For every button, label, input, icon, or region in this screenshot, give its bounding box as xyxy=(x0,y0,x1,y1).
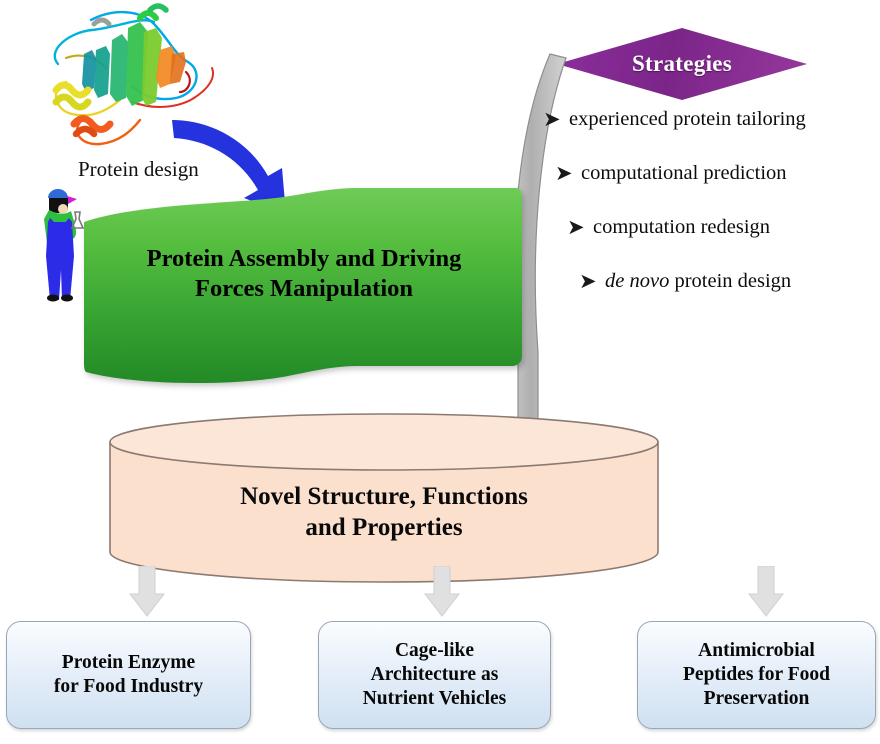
figure-canvas: Protein design xyxy=(0,0,880,744)
outcome-box-antimicrobial[interactable]: Antimicrobial Peptides for Food Preserva… xyxy=(637,621,876,729)
outcome-line-3: Preservation xyxy=(683,687,830,711)
list-item-label-italic: de novo xyxy=(605,270,669,292)
outcome-box-cage-like[interactable]: Cage-like Architecture as Nutrient Vehic… xyxy=(318,621,551,729)
list-item-label-rest: protein design xyxy=(669,270,791,292)
strategies-list: ➤ experienced protein tailoring ➤ comput… xyxy=(543,108,880,324)
outcome-box-text: Protein Enzyme for Food Industry xyxy=(54,651,203,699)
outcome-line-1: Protein Enzyme xyxy=(54,651,203,675)
strategies-diamond: Strategies xyxy=(557,28,807,100)
outcome-box-protein-enzyme[interactable]: Protein Enzyme for Food Industry xyxy=(6,621,251,729)
cylinder-line-1: Novel Structure, Functions xyxy=(108,482,660,513)
outcome-line-2: Architecture as xyxy=(363,663,507,687)
down-arrow-icon xyxy=(423,566,461,618)
outcome-line-2: Peptides for Food xyxy=(683,663,830,687)
list-item: ➤ experienced protein tailoring xyxy=(543,108,880,162)
list-item: ➤ computation redesign xyxy=(543,216,880,270)
list-item-label: experienced protein tailoring xyxy=(569,108,806,131)
list-item: ➤ computational prediction xyxy=(543,162,880,216)
arrow-bullet-icon: ➤ xyxy=(543,108,569,130)
list-item: ➤ de novo protein design xyxy=(543,270,880,324)
list-item-label: de novo protein design xyxy=(605,270,791,293)
list-item-label: computation redesign xyxy=(593,216,770,239)
arrow-bullet-icon: ➤ xyxy=(567,216,593,238)
arrow-bullet-icon: ➤ xyxy=(555,162,581,184)
outcome-line-3: Nutrient Vehicles xyxy=(363,687,507,711)
list-item-label: computational prediction xyxy=(581,162,787,185)
outcome-line-1: Antimicrobial xyxy=(683,639,830,663)
protein-assembly-banner: Protein Assembly and Driving Forces Mani… xyxy=(84,186,524,392)
down-arrow-icon xyxy=(747,566,785,618)
outcome-box-text: Antimicrobial Peptides for Food Preserva… xyxy=(683,639,830,712)
outcome-line-2: for Food Industry xyxy=(54,675,203,699)
outcome-line-1: Cage-like xyxy=(363,639,507,663)
arrow-bullet-icon: ➤ xyxy=(579,270,605,292)
cylinder-line-2: and Properties xyxy=(108,513,660,544)
strategies-title: Strategies xyxy=(557,28,807,100)
novel-structure-cylinder: Novel Structure, Functions and Propertie… xyxy=(108,412,660,584)
scientist-figure-icon xyxy=(36,184,88,302)
outcome-box-text: Cage-like Architecture as Nutrient Vehic… xyxy=(363,639,507,712)
cylinder-text: Novel Structure, Functions and Propertie… xyxy=(108,482,660,543)
down-arrow-icon xyxy=(128,566,166,618)
